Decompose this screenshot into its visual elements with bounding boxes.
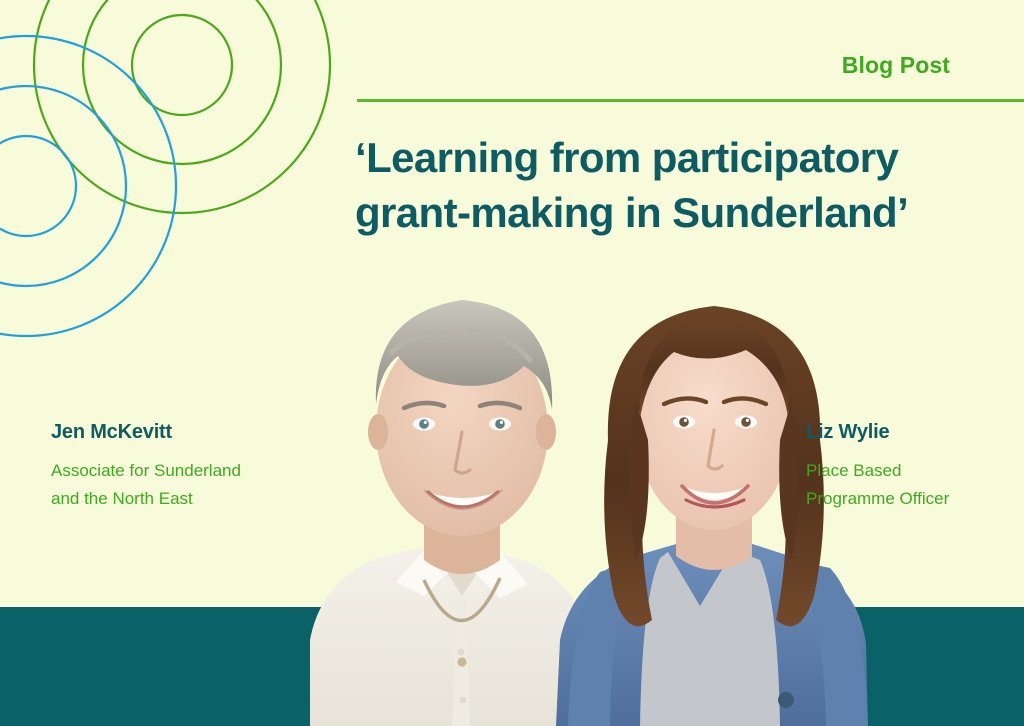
person-name: Liz Wylie [806, 421, 1016, 444]
person-role: Place Based Programme Officer [806, 457, 1016, 513]
person-role-line-1: Place Based [806, 457, 1016, 485]
person-role-line-2: Programme Officer [806, 485, 1016, 513]
person-name: Jen McKevitt [51, 421, 291, 444]
person-caption-jen: Jen McKevitt Associate for Sunderland an… [51, 421, 291, 513]
portrait-jen [310, 300, 590, 726]
person-role-line-2: and the North East [51, 485, 291, 513]
portraits-group [0, 0, 1024, 726]
person-role-line-1: Associate for Sunderland [51, 457, 291, 485]
person-role: Associate for Sunderland and the North E… [51, 457, 291, 513]
page-title: ‘Learning from participatory grant-makin… [355, 130, 995, 240]
person-caption-liz: Liz Wylie Place Based Programme Officer [806, 421, 1016, 513]
category-label: Blog Post [357, 52, 950, 79]
title-line-1: ‘Learning from participatory [355, 130, 995, 185]
portrait-liz [556, 306, 868, 726]
blog-post-banner: Blog Post ‘Learning from participatory g… [0, 0, 1024, 726]
header-divider [357, 99, 1024, 102]
title-line-2: grant-making in Sunderland’ [355, 185, 995, 240]
